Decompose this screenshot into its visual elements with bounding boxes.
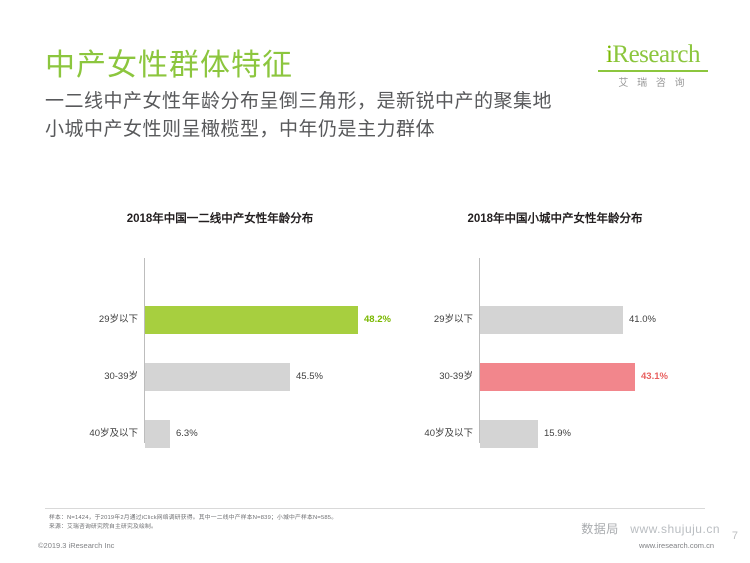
logo-wordmark: iResearch: [598, 42, 708, 68]
page-title: 中产女性群体特征: [45, 40, 293, 84]
bar-track: 15.9%: [480, 420, 715, 448]
bar-value: [480, 420, 538, 448]
chart-axis-tier12: [144, 258, 145, 443]
footer-divider: [45, 508, 705, 509]
source-note-line-2: 来源：艾瑞咨询研究院自主研究及绘制。: [49, 523, 337, 532]
category-label: 40岁及以下: [395, 420, 473, 448]
watermark: 数据局 www.shujuju.cn: [581, 520, 720, 537]
table-row: 30-39岁 45.5%: [60, 363, 380, 391]
bar-track: 48.2%: [145, 306, 380, 334]
bar-track: 43.1%: [480, 363, 715, 391]
table-row: 40岁及以下 6.3%: [60, 420, 380, 448]
bar-track: 45.5%: [145, 363, 380, 391]
chart-title-smallcity: 2018年中国小城中产女性年龄分布: [395, 210, 715, 226]
chart-panel-tier12: 2018年中国一二线中产女性年龄分布 29岁以下 48.2% 30-39岁 45…: [60, 210, 380, 443]
bar-track: 6.3%: [145, 420, 380, 448]
bar-value-label: 41.0%: [629, 306, 656, 334]
category-label: 29岁以下: [395, 306, 473, 334]
source-note-line-1: 样本：N=1424，于2019年2月通过iClick网络调研获得。其中一二线中产…: [49, 514, 337, 523]
chart-axis-smallcity: [479, 258, 480, 443]
category-label: 40岁及以下: [60, 420, 138, 448]
subtitle-line-2: 小城中产女性则呈橄榄型，中年仍是主力群体: [45, 116, 552, 144]
chart-plot-smallcity: 29岁以下 41.0% 30-39岁 43.1% 40岁及以下 15.9%: [395, 258, 715, 443]
bar-value-label: 48.2%: [364, 306, 391, 334]
page-number: 7: [732, 530, 738, 542]
chart-plot-tier12: 29岁以下 48.2% 30-39岁 45.5% 40岁及以下 6.3%: [60, 258, 380, 443]
chart-title-tier12: 2018年中国一二线中产女性年龄分布: [60, 210, 380, 226]
watermark-chinese: 数据局: [581, 522, 619, 536]
bar-value-label: 45.5%: [296, 363, 323, 391]
bar-value-label: 15.9%: [544, 420, 571, 448]
watermark-url: www.shujuju.cn: [630, 522, 720, 536]
logo-chinese-name: 艾 瑞 咨 询: [598, 74, 708, 89]
iresearch-logo: iResearch 艾 瑞 咨 询: [598, 42, 708, 89]
category-label: 30-39岁: [395, 363, 473, 391]
bar-value: [480, 363, 635, 391]
table-row: 40岁及以下 15.9%: [395, 420, 715, 448]
bar-value-label: 43.1%: [641, 363, 668, 391]
table-row: 29岁以下 41.0%: [395, 306, 715, 334]
category-label: 29岁以下: [60, 306, 138, 334]
company-site-url: www.iresearch.com.cn: [639, 541, 714, 550]
subtitle-line-1: 一二线中产女性年龄分布呈倒三角形，是新锐中产的聚集地: [45, 88, 552, 116]
bar-value-label: 6.3%: [176, 420, 198, 448]
source-note: 样本：N=1424，于2019年2月通过iClick网络调研获得。其中一二线中产…: [49, 514, 337, 531]
category-label: 30-39岁: [60, 363, 138, 391]
copyright-text: ©2019.3 iResearch Inc: [38, 541, 114, 550]
bar-value: [480, 306, 623, 334]
bar-value: [145, 420, 170, 448]
page-subtitle: 一二线中产女性年龄分布呈倒三角形，是新锐中产的聚集地 小城中产女性则呈橄榄型，中…: [45, 88, 552, 144]
logo-divider: [598, 70, 708, 72]
bar-value: [145, 306, 358, 334]
logo-word-research: Research: [612, 41, 700, 68]
bar-track: 41.0%: [480, 306, 715, 334]
table-row: 30-39岁 43.1%: [395, 363, 715, 391]
table-row: 29岁以下 48.2%: [60, 306, 380, 334]
slide: 中产女性群体特征 一二线中产女性年龄分布呈倒三角形，是新锐中产的聚集地 小城中产…: [0, 0, 750, 563]
chart-panel-smallcity: 2018年中国小城中产女性年龄分布 29岁以下 41.0% 30-39岁 43.…: [395, 210, 715, 443]
bar-value: [145, 363, 290, 391]
